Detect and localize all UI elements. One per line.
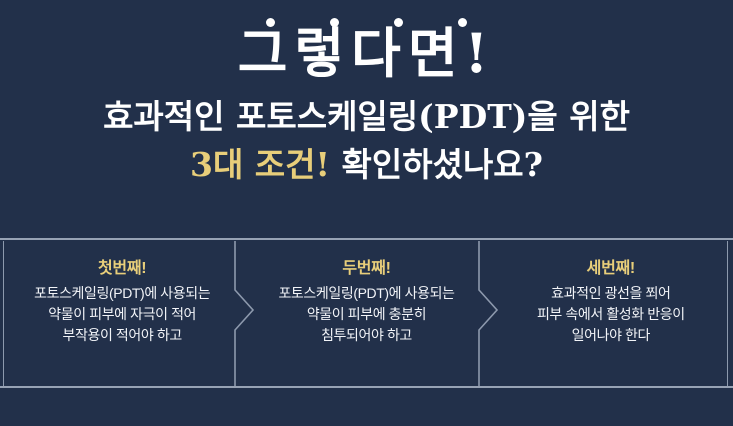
condition-line: 약물이 피부에 충분히 xyxy=(244,304,488,325)
headline-question-rest: 확인하셨나요? xyxy=(330,145,543,184)
condition-column-2: 두번째! 포토스케일링(PDT)에 사용되는 약물이 피부에 충분히 침투되어야… xyxy=(244,241,488,386)
headline-main: 그렇다면! xyxy=(0,16,733,90)
condition-line: 포토스케일링(PDT)에 사용되는 xyxy=(0,283,244,304)
band-top-divider xyxy=(0,238,733,240)
condition-line: 효과적인 광선을 쬐어 xyxy=(489,283,733,304)
condition-line: 피부 속에서 활성화 반응이 xyxy=(489,304,733,325)
condition-line: 부작용이 적어야 하고 xyxy=(0,325,244,346)
condition-title: 첫번째! xyxy=(0,258,244,280)
condition-line: 침투되어야 하고 xyxy=(244,325,488,346)
condition-title: 세번째! xyxy=(489,258,733,280)
condition-column-1: 첫번째! 포토스케일링(PDT)에 사용되는 약물이 피부에 자극이 적어 부작… xyxy=(0,241,244,386)
poster-root: 그렇다면! 효과적인 포토스케일링(PDT)을 위한 3대 조건! 확인하셨나요… xyxy=(0,0,733,426)
headline-block: 그렇다면! 효과적인 포토스케일링(PDT)을 위한 3대 조건! 확인하셨나요… xyxy=(0,0,733,188)
condition-body: 포토스케일링(PDT)에 사용되는 약물이 피부에 자극이 적어 부작용이 적어… xyxy=(0,283,244,346)
condition-title: 두번째! xyxy=(244,258,488,280)
headline-question-accent: 3대 조건! xyxy=(190,145,330,184)
headline-question: 3대 조건! 확인하셨나요? xyxy=(0,142,733,188)
condition-line: 일어나야 한다 xyxy=(489,325,733,346)
conditions-columns: 첫번째! 포토스케일링(PDT)에 사용되는 약물이 피부에 자극이 적어 부작… xyxy=(0,241,733,386)
condition-body: 효과적인 광선을 쬐어 피부 속에서 활성화 반응이 일어나야 한다 xyxy=(489,283,733,346)
condition-body: 포토스케일링(PDT)에 사용되는 약물이 피부에 충분히 침투되어야 하고 xyxy=(244,283,488,346)
headline-subtitle: 효과적인 포토스케일링(PDT)을 위한 xyxy=(0,94,733,140)
band-bottom-divider xyxy=(0,386,733,388)
condition-column-3: 세번째! 효과적인 광선을 쬐어 피부 속에서 활성화 반응이 일어나야 한다 xyxy=(489,241,733,386)
headline-main-text: 그렇다면! xyxy=(238,21,495,85)
condition-line: 포토스케일링(PDT)에 사용되는 xyxy=(244,283,488,304)
condition-line: 약물이 피부에 자극이 적어 xyxy=(0,304,244,325)
